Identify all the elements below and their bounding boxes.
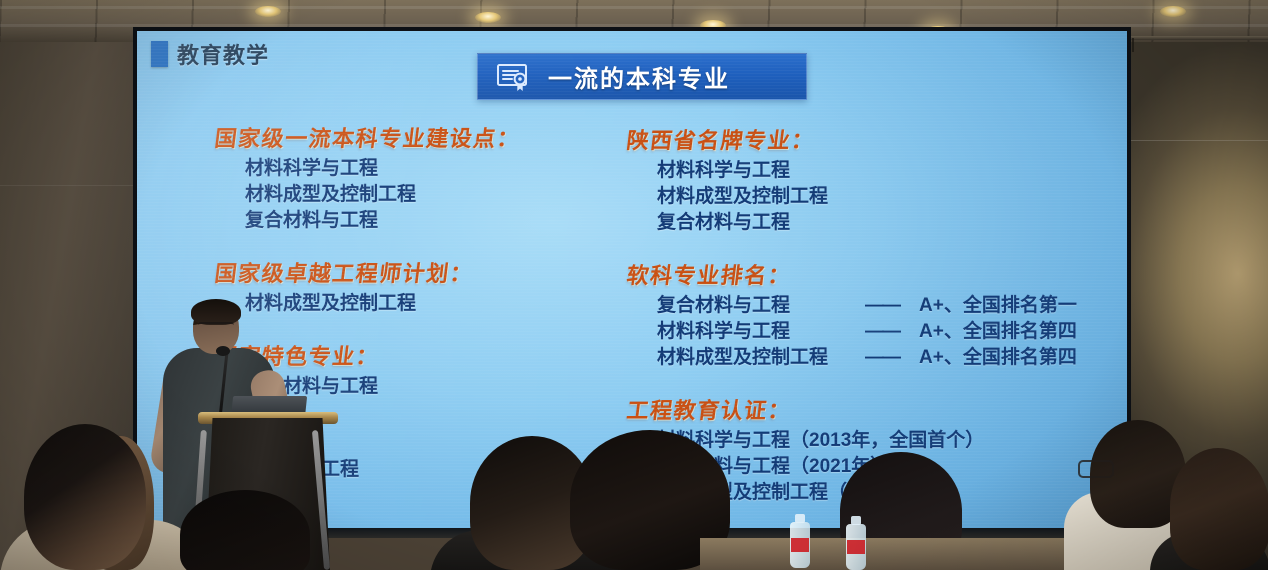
list-item: 复合材料与工程 [245,374,615,400]
section-items: 材料科学与工程 材料成型及控制工程 复合材料与工程 [627,158,1107,236]
slide-title: 一流的本科专业 [548,59,730,94]
section-emerging-major: 新兴专业： 增材制造工程 [215,422,615,483]
section-national-specialty: 国家特色专业： 复合材料与工程 [215,339,615,400]
projection-screen: 教育教学 一流的本科专业 国家级一流本科专业建设点： [137,31,1127,531]
audience-shoulder [800,540,1000,570]
left-wall [0,0,133,570]
list-item: 材料成型及控制工程（ [657,480,1107,506]
kicker-label: 教育教学 [177,38,269,70]
ranking-row: 材料成型及控制工程 —— A+、全国排名第四 [657,345,1107,371]
section-items: 材料成型及控制工程 [215,291,615,317]
section-ruanke-ranking: 软科专业排名： 复合材料与工程 —— A+、全国排名第一 材料科学与工程 —— … [627,258,1107,371]
list-item: 材料科学与工程 [657,158,1107,184]
ranking-value: A+、全国排名第一 [909,293,1077,319]
slide-kicker: 教育教学 [151,38,269,70]
conference-room-photo: 教育教学 一流的本科专业 国家级一流本科专业建设点： [0,0,1268,570]
ceiling-spotlight [1160,6,1186,17]
screen-bottom-edge [133,528,1131,538]
section-heading: 软科专业排名： [625,258,793,290]
section-national-first-class: 国家级一流本科专业建设点： 材料科学与工程 材料成型及控制工程 复合材料与工程 [215,121,615,234]
ranking-dash: —— [865,345,909,371]
front-table [700,538,1140,570]
list-item: 材料成型及控制工程 [245,291,615,317]
list-item: 增材制造工程 [245,457,615,483]
section-items: 材料科学与工程（2013年，全国首个） 复合材料与工程（2021年） 材料成型及… [627,428,1107,506]
section-items: 复合材料与工程 [215,374,615,400]
section-heading: 国家特色专业： [213,339,381,371]
ceiling-spotlight [255,6,281,17]
bottle-label [791,538,809,552]
list-item: 材料科学与工程 [245,156,615,182]
list-item: 材料成型及控制工程 [245,182,615,208]
list-item: 复合材料与工程（2021年） [657,454,1107,480]
left-content-column: 国家级一流本科专业建设点： 材料科学与工程 材料成型及控制工程 复合材料与工程 … [215,121,615,505]
list-item: 复合材料与工程 [245,208,615,234]
bottle-label [847,540,865,554]
section-shaanxi-brand-major: 陕西省名牌专业： 材料科学与工程 材料成型及控制工程 复合材料与工程 [627,123,1107,236]
section-engineering-accreditation: 工程教育认证： 材料科学与工程（2013年，全国首个） 复合材料与工程（2021… [627,393,1107,506]
ranking-major: 材料成型及控制工程 [657,345,865,371]
ranking-row: 材料科学与工程 —— A+、全国排名第四 [657,319,1107,345]
right-wall [1131,0,1268,570]
ranking-dash: —— [865,293,909,319]
ranking-value: A+、全国排名第四 [909,319,1077,345]
ranking-list: 复合材料与工程 —— A+、全国排名第一 材料科学与工程 —— A+、全国排名第… [627,293,1107,371]
ranking-major: 复合材料与工程 [657,293,865,319]
section-items: 材料科学与工程 材料成型及控制工程 复合材料与工程 [215,156,615,234]
section-items: 增材制造工程 [215,457,615,483]
section-heading: 国家级卓越工程师计划： [213,256,475,288]
section-heading: 工程教育认证： [625,393,793,425]
ranking-row: 复合材料与工程 —— A+、全国排名第一 [657,293,1107,319]
right-content-column: 陕西省名牌专业： 材料科学与工程 材料成型及控制工程 复合材料与工程 软科专业排… [627,123,1107,528]
ceiling-beam [0,6,1268,9]
ranking-major: 材料科学与工程 [657,319,865,345]
list-item: 材料科学与工程（2013年，全国首个） [657,428,1107,454]
track-hanger [1132,38,1134,52]
ceiling-spotlight [475,12,501,23]
section-excellent-engineer-plan: 国家级卓越工程师计划： 材料成型及控制工程 [215,256,615,317]
certificate-award-icon [496,62,532,92]
section-heading: 陕西省名牌专业： [625,123,817,155]
list-item: 复合材料与工程 [657,210,1107,236]
slide-title-banner: 一流的本科专业 [477,53,807,100]
section-heading: 国家级一流本科专业建设点： [213,121,522,153]
section-heading: 新兴专业： [213,422,334,454]
ranking-value: A+、全国排名第四 [909,345,1077,371]
list-item: 材料成型及控制工程 [657,184,1107,210]
kicker-accent-bar [151,41,168,67]
ranking-dash: —— [865,319,909,345]
